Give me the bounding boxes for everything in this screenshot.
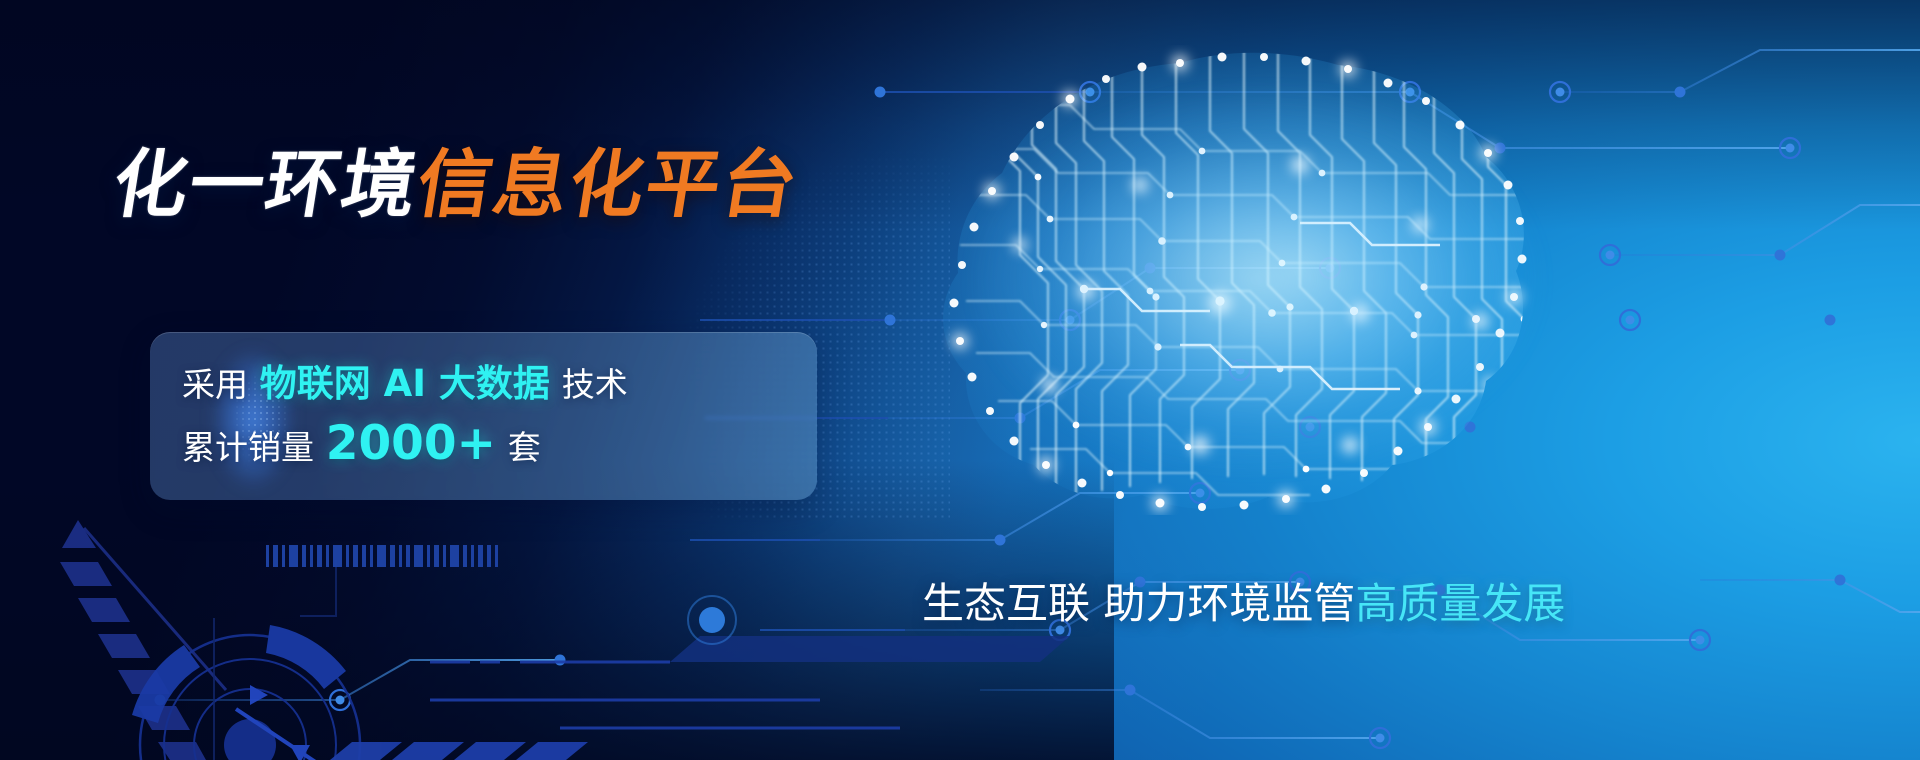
accent-dot-large: [699, 607, 725, 633]
banner-root: 化一环境信息化平台 采用 物联网 AI 大数据 技术 累计销量 2000+ 套 …: [0, 0, 1920, 760]
accent-dots: [0, 0, 1920, 760]
